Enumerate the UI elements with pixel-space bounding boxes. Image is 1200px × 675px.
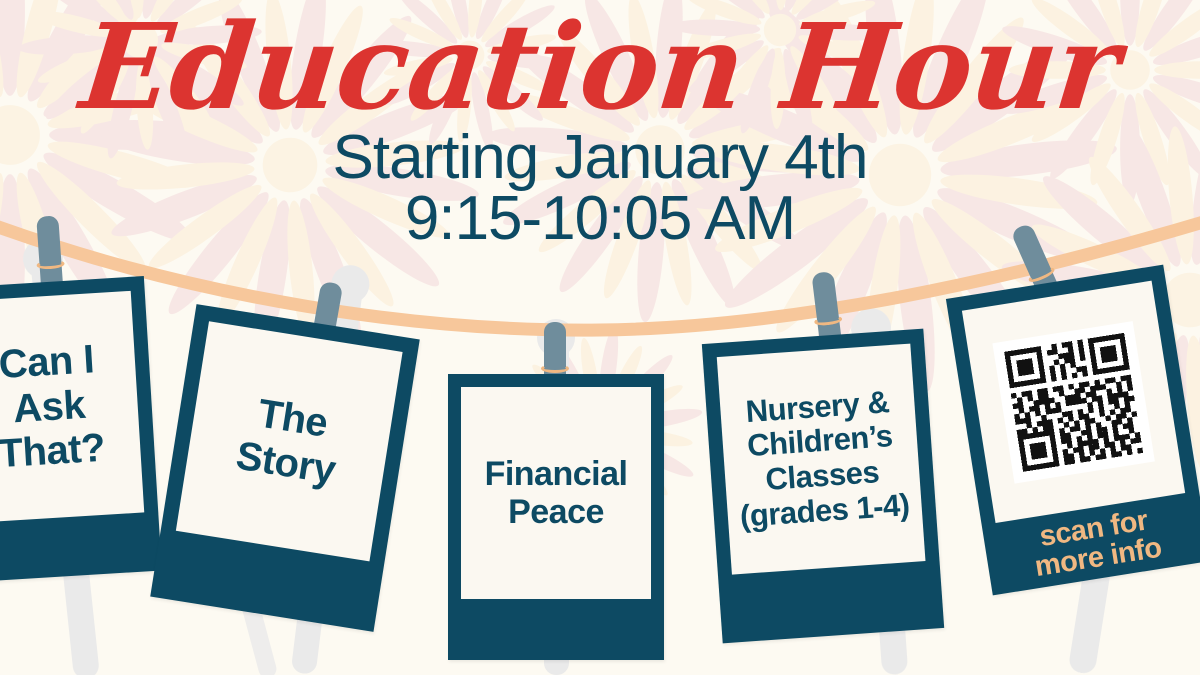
card-photo-area [962,281,1185,523]
card-can-i-ask-that[interactable]: Can I Ask That? [0,276,162,583]
card-photo-area: Can I Ask That? [0,291,144,523]
card-the-story[interactable]: The Story [150,304,420,632]
scan-caption: scan for more info [1028,505,1163,581]
card-label: The Story [227,388,351,494]
qr-code-icon[interactable] [992,321,1154,483]
card-photo-area: Financial Peace [461,387,651,599]
card-photo-area: Nursery & Children’s Classes (grades 1-4… [717,344,926,575]
card-financial-peace[interactable]: Financial Peace [448,374,664,660]
card-caption-bar [732,561,930,642]
card-photo-area: The Story [176,321,403,561]
card-label: Nursery & Children’s Classes (grades 1-4… [726,383,917,534]
card-qr-scan[interactable]: scan for more info [946,265,1200,596]
card-caption-bar [0,512,148,582]
card-label: Can I Ask That? [0,336,112,477]
card-caption-bar [461,599,651,660]
card-nursery-children[interactable]: Nursery & Children’s Classes (grades 1-4… [702,329,944,644]
poster-canvas: Education Hour Starting January 4th 9:15… [0,0,1200,675]
card-label: Financial Peace [479,455,634,531]
